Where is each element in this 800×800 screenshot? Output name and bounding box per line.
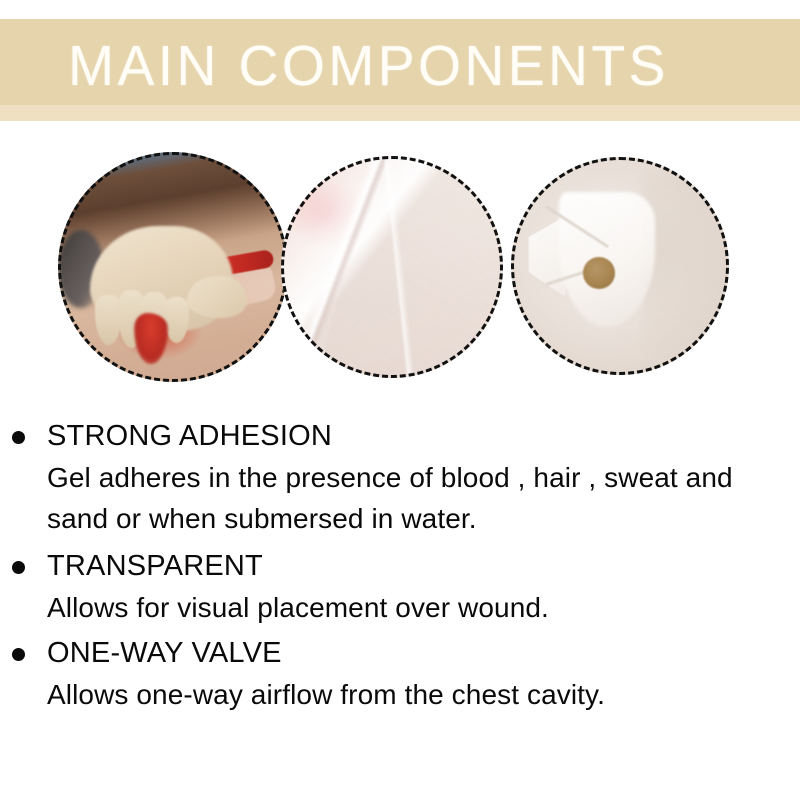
page-title: MAIN COMPONENTS: [68, 27, 747, 105]
photo-one-way-valve-icon: [511, 157, 729, 375]
header-banner-understrip: [0, 105, 800, 121]
photo-transparent-film-icon: [281, 156, 503, 378]
bullet-dot-icon: [12, 648, 25, 661]
photo3-valve-port: [583, 257, 615, 289]
feature-list: STRONG ADHESION Gel adheres in the prese…: [0, 414, 800, 715]
feature-title: TRANSPARENT: [47, 550, 263, 582]
feature-description: Allows one-way airflow from the chest ca…: [0, 674, 800, 715]
feature-item-one-way-valve: ONE-WAY VALVE Allows one-way airflow fro…: [0, 633, 800, 715]
feature-description: Gel adheres in the presence of blood , h…: [0, 457, 800, 539]
feature-item-transparent: TRANSPARENT Allows for visual placement …: [0, 546, 800, 628]
image-gallery: [0, 148, 800, 388]
gallery-image-one-way-valve: [511, 157, 729, 375]
feature-description: Allows for visual placement over wound.: [0, 587, 800, 628]
photo-gloved-hand-applying-seal-icon: [58, 152, 288, 382]
bullet-dot-icon: [12, 431, 25, 444]
feature-heading: ONE-WAY VALVE: [0, 633, 800, 674]
feature-title: ONE-WAY VALVE: [47, 637, 282, 669]
bullet-dot-icon: [12, 561, 25, 574]
photo1-thumb: [187, 276, 247, 317]
feature-title: STRONG ADHESION: [47, 420, 332, 452]
feature-heading: TRANSPARENT: [0, 546, 800, 587]
feature-item-strong-adhesion: STRONG ADHESION Gel adheres in the prese…: [0, 416, 800, 539]
gallery-image-strong-adhesion: [58, 152, 288, 382]
photo1-blood: [134, 313, 169, 364]
feature-heading: STRONG ADHESION: [0, 416, 800, 457]
photo3-shadow: [642, 174, 729, 361]
gallery-image-transparent: [281, 156, 503, 378]
